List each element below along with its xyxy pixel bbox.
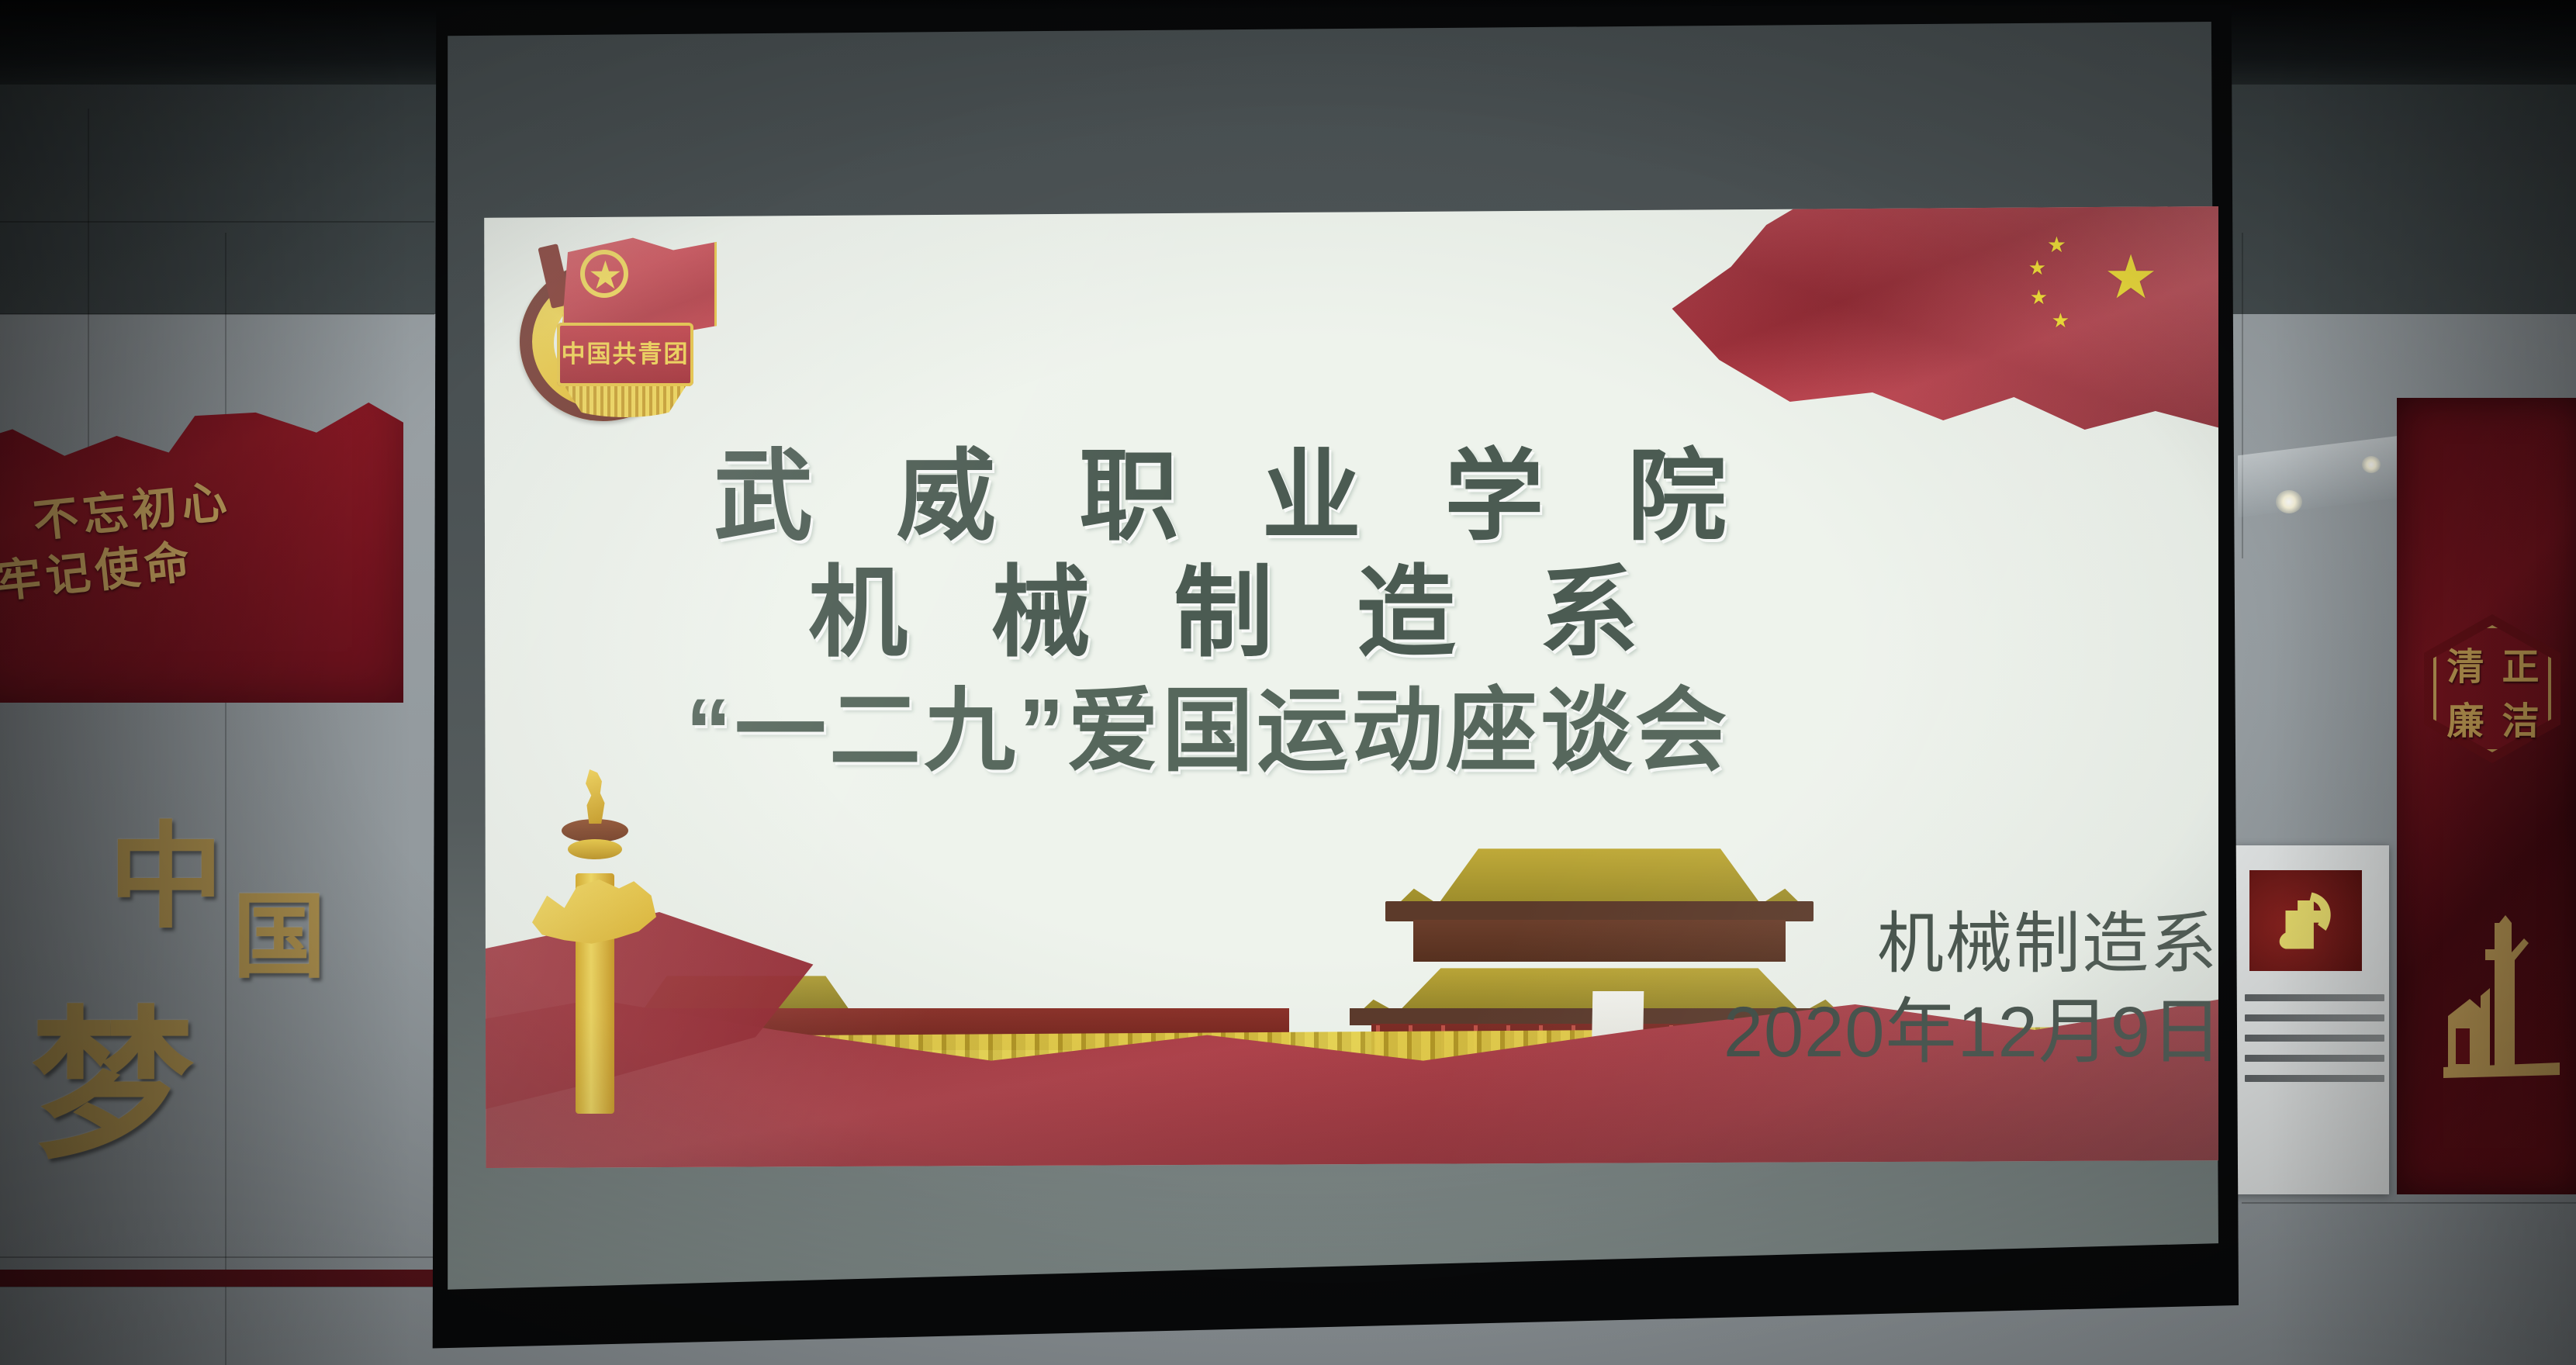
presentation-slide[interactable]: ★ ★ ★ ★ ★ ★ 中国共青团 武 威 职 业 学 院 机 械 制 造 系 … xyxy=(482,206,2218,1168)
tile-grout-line xyxy=(0,221,434,223)
gold-char-guo: 国 xyxy=(233,861,326,996)
ceiling-spotlight-icon xyxy=(2276,490,2302,513)
ceiling-spotlight-icon xyxy=(2362,456,2381,473)
tile-grout-line xyxy=(225,233,226,1365)
huabiao-mythical-beast xyxy=(582,769,610,824)
hexagon-char-zheng: 正 xyxy=(2502,636,2539,690)
slide-subtitle: “一二九”爱国运动座谈会 xyxy=(686,656,1730,789)
flag-star-large: ★ xyxy=(2104,247,2158,307)
poster-text-line xyxy=(2245,1035,2384,1042)
gate-upper-roof xyxy=(1398,833,1801,904)
poster-text-line xyxy=(2245,1014,2384,1021)
poster-text-line xyxy=(2245,994,2384,1001)
gold-char-meng: 梦 xyxy=(31,954,194,1190)
flag-star-small-4: ★ xyxy=(2052,310,2069,330)
chinese-flag-shading xyxy=(1637,206,2218,430)
poster-text-block xyxy=(2245,994,2384,1095)
flag-star-small-2: ★ xyxy=(2028,257,2046,278)
hexagon-char-lian: 廉 xyxy=(2446,690,2484,745)
gate-upper-body xyxy=(1413,920,1786,962)
tile-grout-line xyxy=(0,313,434,315)
poster-text-line xyxy=(2245,1075,2384,1082)
hexagon-char-qing: 清 xyxy=(2446,636,2484,690)
flag-star-small-3: ★ xyxy=(2030,287,2048,307)
gate-upper-eave xyxy=(1385,901,1814,921)
emblem-star: ★ xyxy=(588,256,623,295)
communist-youth-league-emblem-icon: ★ 中国共青团 xyxy=(513,230,707,423)
tile-grout-line xyxy=(2242,1202,2576,1204)
emblem-inscription-plate: 中国共青团 xyxy=(557,323,693,386)
monument-silhouette-icon xyxy=(2443,915,2560,1094)
gold-char-zhong: 中 xyxy=(109,783,223,950)
ccp-hammer-and-sickle-emblem-icon xyxy=(2249,870,2362,971)
huabiao-column-icon xyxy=(527,765,659,1114)
flag-star-small-1: ★ xyxy=(2047,234,2066,256)
emblem-inscription-text: 中国共青团 xyxy=(557,323,693,386)
huabiao-cap xyxy=(568,839,622,859)
hexagon-plaque-text: 清 正 廉 洁 xyxy=(2438,636,2548,743)
slide-footer-organization: 机械制造系 xyxy=(1877,889,2218,986)
poster-image xyxy=(2249,870,2362,971)
slide-title-line-2: 机 械 制 造 系 xyxy=(808,532,1666,676)
poster-text-line xyxy=(2245,1055,2384,1062)
hexagon-char-jie: 洁 xyxy=(2502,690,2539,745)
slide-footer-date: 2020年12月9日 xyxy=(1724,974,2218,1077)
photo-canvas: 不忘初心 牢记使命 中 国 梦 清 正 廉 洁 xyxy=(0,0,2576,1365)
